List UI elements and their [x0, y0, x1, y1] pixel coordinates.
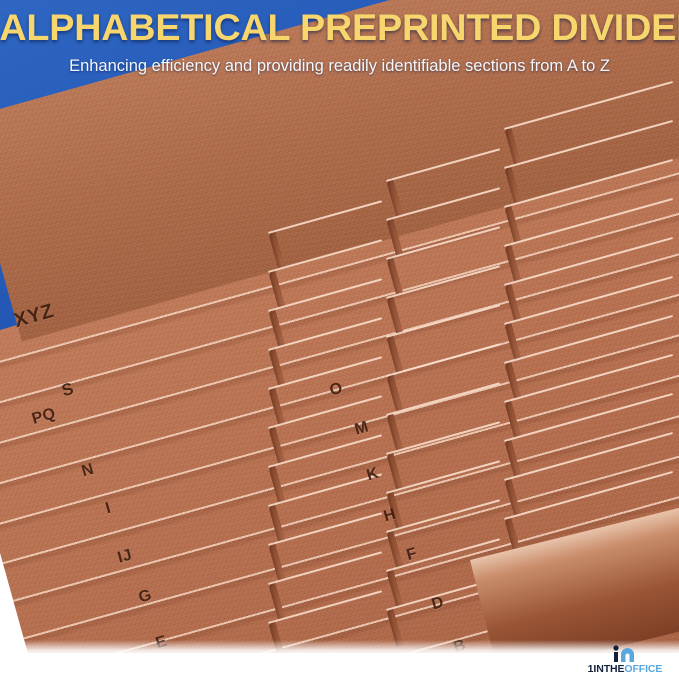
brand-logo: 1INTHEOFFICE: [579, 645, 671, 678]
product-banner-image: XYZSPQNIIJGEOMKHFDB ALPHABETICAL PREPRIN…: [0, 0, 679, 678]
logo-word-secondary: OFFICE: [624, 663, 662, 675]
page-title: ALPHABETICAL PREPRINTED DIVIDER: [0, 6, 679, 49]
page-subtitle: Enhancing efficiency and providing readi…: [6, 55, 673, 77]
logo-word-primary: 1INTHE: [588, 663, 625, 675]
logo-wordmark: 1INTHEOFFICE: [579, 663, 671, 675]
product-photo: XYZSPQNIIJGEOMKHFDB: [0, 0, 679, 655]
title-block: ALPHABETICAL PREPRINTED DIVIDER Enhancin…: [0, 0, 679, 77]
in-monogram-icon: [579, 645, 671, 662]
bottom-white-bar: [0, 653, 679, 678]
